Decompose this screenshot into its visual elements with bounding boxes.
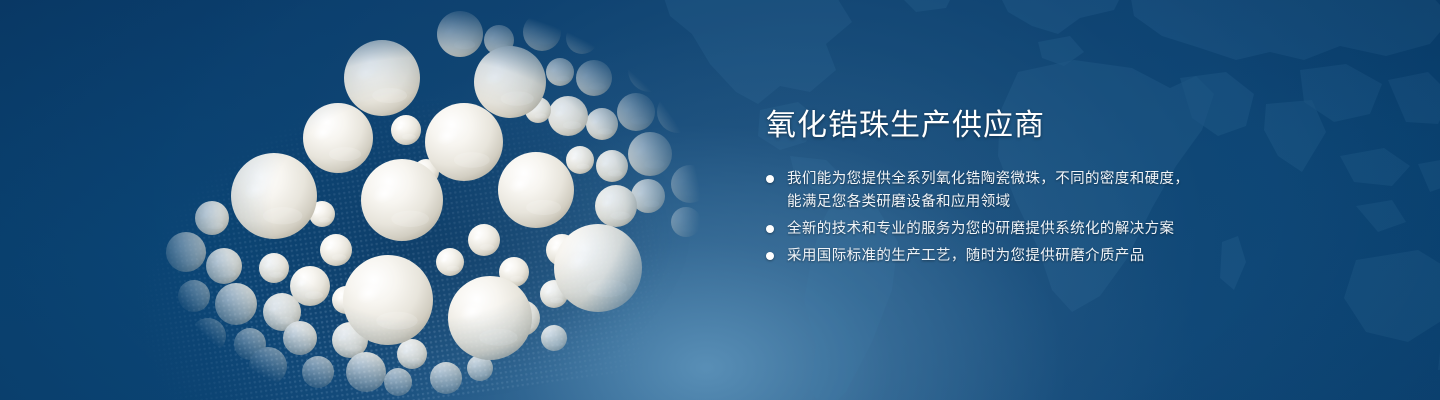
list-item-text: 全新的技术和专业的服务为您的研磨提供系统化的解决方案 — [787, 218, 1174, 241]
list-item: 全新的技术和专业的服务为您的研磨提供系统化的解决方案 — [766, 218, 1366, 241]
banner-copy: 氧化锆珠生产供应商 我们能为您提供全系列氧化锆陶瓷微珠，不同的密度和硬度， 能满… — [766, 106, 1366, 272]
bullet-dot-icon — [766, 252, 774, 260]
list-item-text: 我们能为您提供全系列氧化锆陶瓷微珠，不同的密度和硬度， 能满足您各类研磨设备和应… — [787, 168, 1189, 214]
list-item-text: 采用国际标准的生产工艺，随时为您提供研磨介质产品 — [787, 245, 1145, 268]
feature-list: 我们能为您提供全系列氧化锆陶瓷微珠，不同的密度和硬度， 能满足您各类研磨设备和应… — [766, 168, 1366, 268]
list-item: 采用国际标准的生产工艺，随时为您提供研磨介质产品 — [766, 245, 1366, 268]
bullet-dot-icon — [766, 175, 774, 183]
bullet-dot-icon — [766, 225, 774, 233]
list-item-line: 我们能为您提供全系列氧化锆陶瓷微珠，不同的密度和硬度， — [787, 168, 1189, 191]
list-item: 我们能为您提供全系列氧化锆陶瓷微珠，不同的密度和硬度， 能满足您各类研磨设备和应… — [766, 168, 1366, 214]
list-item-line: 能满足您各类研磨设备和应用领域 — [787, 191, 1189, 214]
hero-banner: 氧化锆珠生产供应商 我们能为您提供全系列氧化锆陶瓷微珠，不同的密度和硬度， 能满… — [0, 0, 1440, 400]
list-item-line: 采用国际标准的生产工艺，随时为您提供研磨介质产品 — [787, 245, 1145, 268]
list-item-line: 全新的技术和专业的服务为您的研磨提供系统化的解决方案 — [787, 218, 1174, 241]
page-title: 氧化锆珠生产供应商 — [766, 106, 1366, 146]
